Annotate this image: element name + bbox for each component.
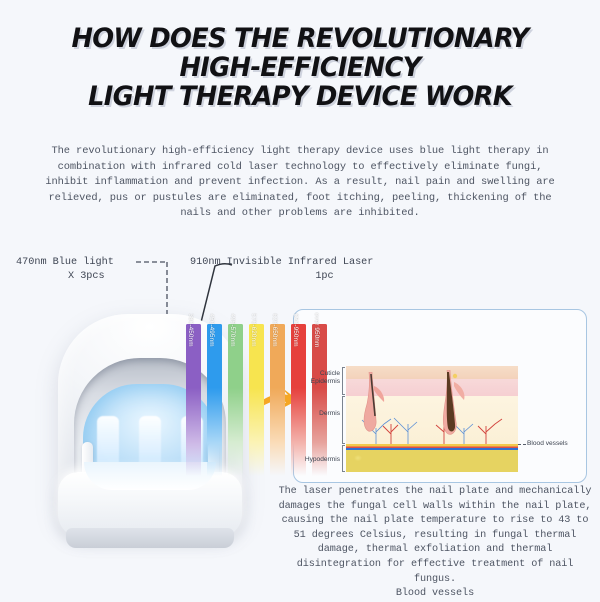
label-epidermis: Epidermis [296, 378, 340, 385]
label-cuticle: Cuticle [296, 370, 340, 377]
wavelength-band-4: 570-620nm [249, 324, 264, 476]
wavelength-band-label: over 950nm [313, 313, 320, 348]
wavelength-band-1: 380-450nm [186, 324, 201, 476]
skin-penetration-panel: 380-450nm450-495nm495-570nm570-620nm620-… [293, 309, 587, 483]
wavelength-band-label: 450-495nm [208, 313, 215, 346]
wavelength-band-7: over 950nm [312, 324, 327, 476]
brace-hypodermis [342, 445, 345, 472]
wavelength-band-6: 650-950nm [291, 324, 306, 476]
wavelength-band-label: 650-950nm [292, 313, 299, 346]
wavelength-band-5: 620-650nm [270, 324, 285, 476]
wavelength-band-label: 570-620nm [250, 313, 257, 346]
wavelength-band-2: 450-495nm [207, 324, 222, 476]
blood-vessels-leader [518, 444, 526, 445]
brace-dermis [342, 396, 345, 444]
diagram-caption: The laser penetrates the nail plate and … [276, 485, 594, 602]
caption-body: The laser penetrates the nail plate and … [279, 486, 592, 585]
label-blood-vessels: Blood vessels [527, 440, 568, 447]
label-dermis: Dermis [296, 410, 340, 417]
caption-trailing: Blood vessels [396, 588, 474, 599]
wavelength-band-label: 495-570nm [229, 313, 236, 346]
brace-epidermis [342, 367, 345, 395]
label-hypodermis: Hypodermis [296, 456, 340, 463]
wavelength-band-label: 380-450nm [187, 313, 194, 346]
wavelength-band-3: 495-570nm [228, 324, 243, 476]
device-base [66, 528, 234, 548]
wavelength-band-label: 620-650nm [271, 313, 278, 346]
